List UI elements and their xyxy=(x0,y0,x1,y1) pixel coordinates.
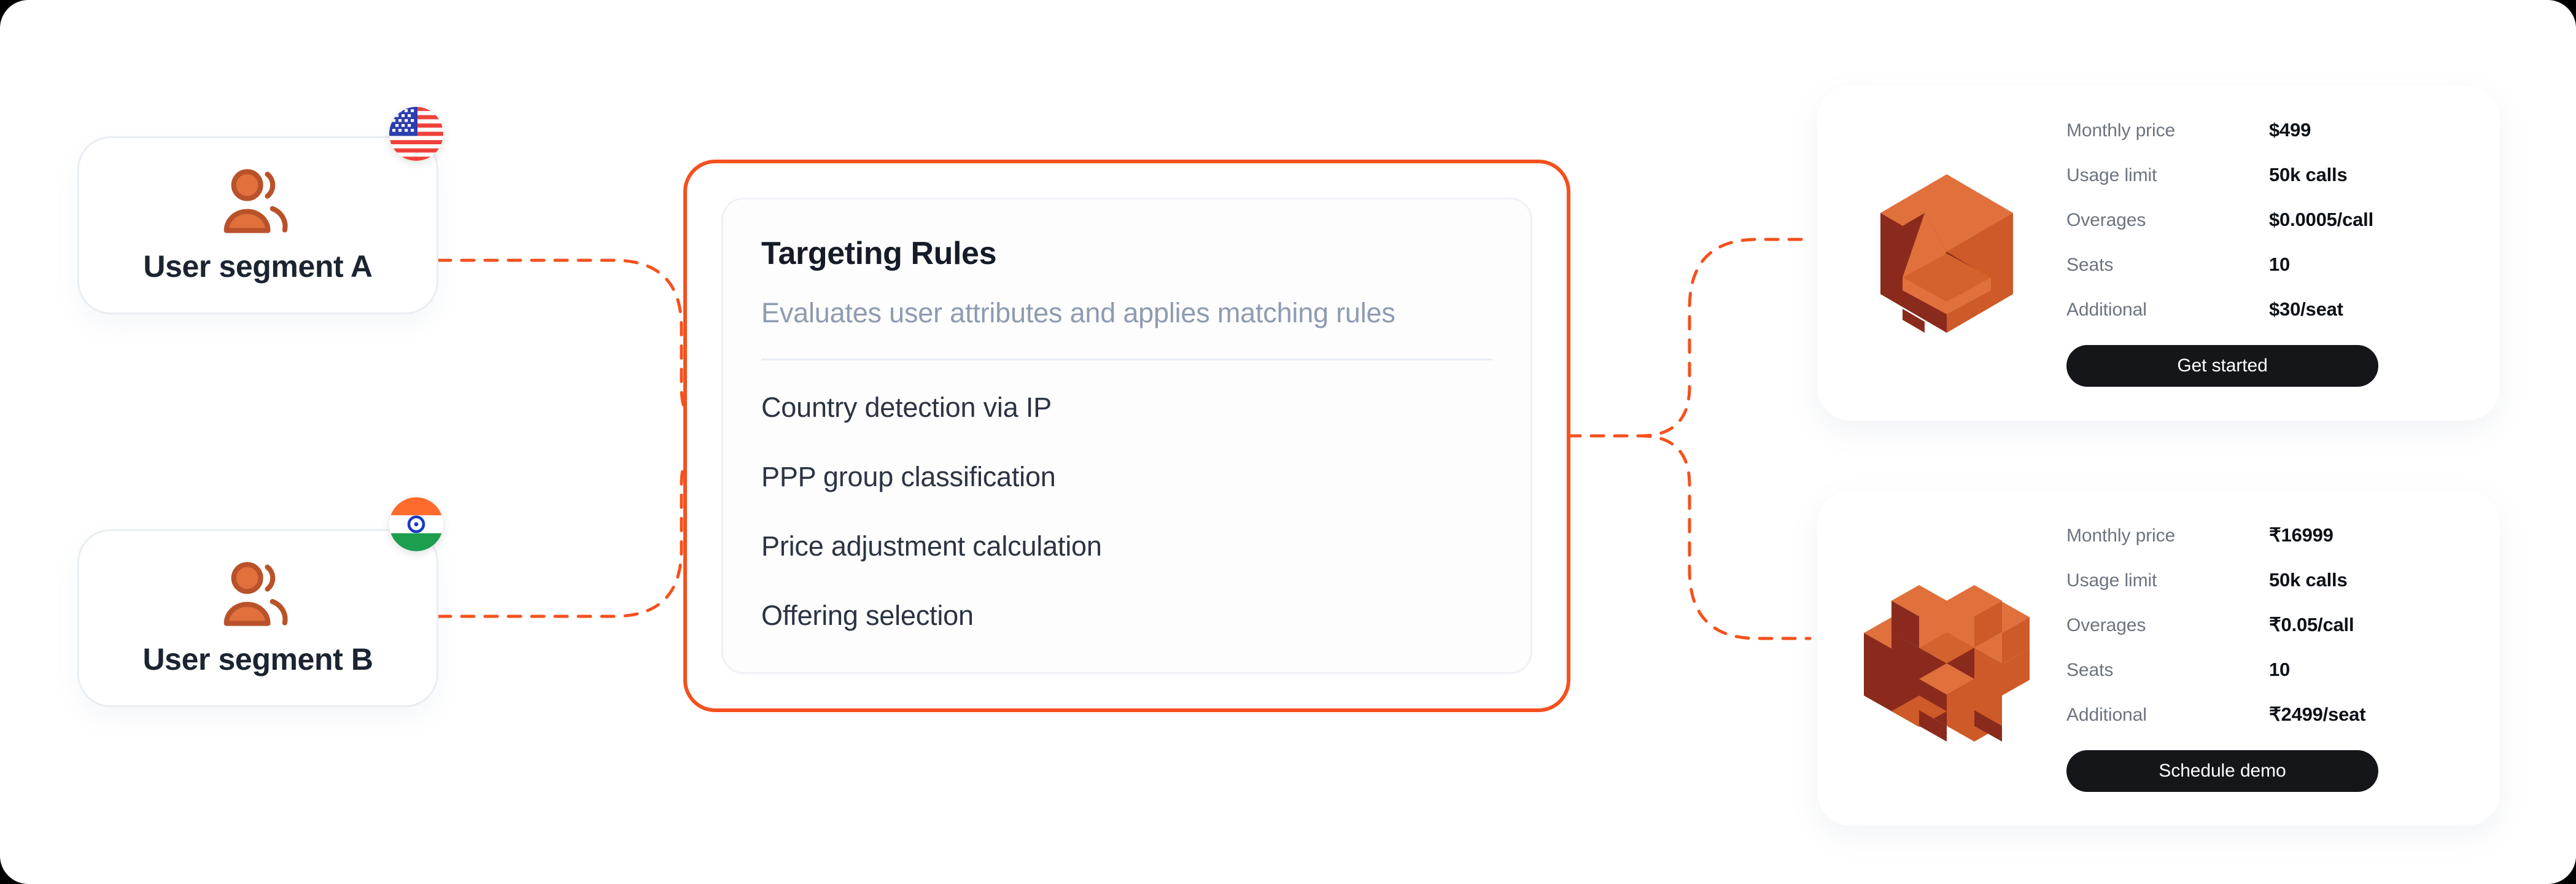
row-value: 10 xyxy=(2269,255,2290,274)
row-value: 10 xyxy=(2269,660,2290,679)
hexagon-3d-icon xyxy=(1845,152,2048,355)
pricing-card-inr: Monthly price ₹16999 Usage limit 50k cal… xyxy=(1817,491,2500,826)
segment-card-a[interactable]: User segment A xyxy=(77,136,438,314)
divider xyxy=(761,359,1492,360)
pricing-details-usd: Monthly price $499 Usage limit 50k calls… xyxy=(2048,120,2465,387)
row-key: Seats xyxy=(2066,661,2269,680)
segment-card-b[interactable]: User segment B xyxy=(77,529,438,707)
targeting-rules-list: Country detection via IP PPP group class… xyxy=(761,394,1492,629)
table-row: Monthly price $499 xyxy=(2066,120,2465,140)
table-row: Overages $0.0005/call xyxy=(2066,210,2465,230)
list-item: Country detection via IP xyxy=(761,394,1492,421)
row-value: $30/seat xyxy=(2269,300,2343,319)
targeting-rules-inner-panel: Targeting Rules Evaluates user attribute… xyxy=(721,198,1532,674)
row-key: Overages xyxy=(2066,616,2269,635)
pricing-details-inr: Monthly price ₹16999 Usage limit 50k cal… xyxy=(2048,525,2465,792)
row-value: ₹2499/seat xyxy=(2269,705,2365,724)
table-row: Monthly price ₹16999 xyxy=(2066,525,2465,545)
get-started-button[interactable]: Get started xyxy=(2066,345,2378,387)
row-key: Overages xyxy=(2066,211,2269,230)
flag-us-icon xyxy=(389,107,443,161)
table-row: Usage limit 50k calls xyxy=(2066,165,2465,185)
table-row: Overages ₹0.05/call xyxy=(2066,615,2465,635)
row-value: ₹16999 xyxy=(2269,525,2334,545)
row-value: 50k calls xyxy=(2269,165,2347,184)
list-item: Offering selection xyxy=(761,602,1492,629)
segment-card-a-label: User segment A xyxy=(143,251,372,282)
pricing-card-usd: Monthly price $499 Usage limit 50k calls… xyxy=(1817,86,2500,421)
schedule-demo-button[interactable]: Schedule demo xyxy=(2066,750,2378,792)
row-value: ₹0.05/call xyxy=(2269,615,2354,634)
table-row: Additional $30/seat xyxy=(2066,300,2465,319)
row-key: Monthly price xyxy=(2066,122,2269,140)
targeting-rules-card: Targeting Rules Evaluates user attribute… xyxy=(683,160,1570,712)
targeting-rules-subtitle: Evaluates user attributes and applies ma… xyxy=(761,297,1492,329)
row-key: Monthly price xyxy=(2066,527,2269,545)
row-key: Usage limit xyxy=(2066,166,2269,185)
row-key: Additional xyxy=(2066,706,2269,724)
targeting-rules-title: Targeting Rules xyxy=(761,236,1492,271)
row-key: Additional xyxy=(2066,301,2269,319)
connector-segment-b-to-rules xyxy=(438,436,724,616)
segment-card-b-label: User segment B xyxy=(142,644,373,675)
table-row: Seats 10 xyxy=(2066,660,2465,680)
row-key: Usage limit xyxy=(2066,572,2269,590)
users-group-icon xyxy=(222,169,294,234)
connector-segment-a-to-rules xyxy=(438,260,724,436)
table-row: Usage limit 50k calls xyxy=(2066,570,2465,590)
list-item: Price adjustment calculation xyxy=(761,532,1492,560)
list-item: PPP group classification xyxy=(761,463,1492,490)
table-row: Additional ₹2499/seat xyxy=(2066,705,2465,724)
flag-in-icon xyxy=(389,497,443,551)
row-value: $499 xyxy=(2269,120,2311,139)
users-group-icon xyxy=(222,562,294,627)
table-row: Seats 10 xyxy=(2066,255,2465,274)
flow-diagram-canvas: User segment A xyxy=(0,0,2576,884)
row-key: Seats xyxy=(2066,256,2269,274)
row-value: $0.0005/call xyxy=(2269,210,2373,229)
row-value: 50k calls xyxy=(2269,570,2347,589)
isometric-cross-3d-icon xyxy=(1845,557,2048,760)
